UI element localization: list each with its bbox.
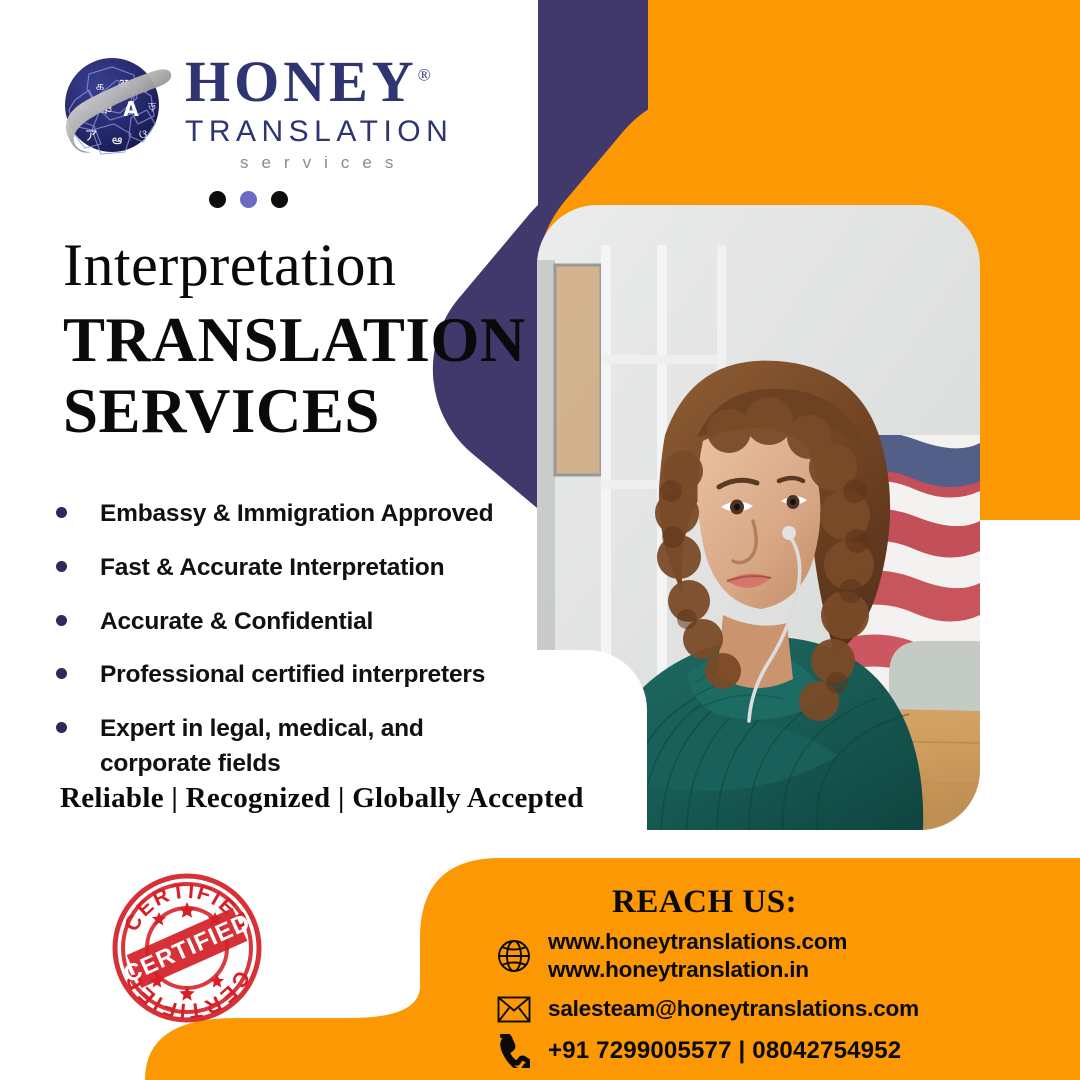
website-text: www.honeytranslations.com www.honeytrans… bbox=[548, 928, 847, 984]
logo-dot-separator bbox=[209, 191, 288, 208]
headline-bold-block: TRANSLATION SERVICES bbox=[63, 305, 526, 446]
list-item-label: Professional certified interpreters bbox=[100, 658, 485, 693]
poster-canvas: க अ ি થ ঞ A ড় ア ఆ ଓ HONEY® TRANSLATION … bbox=[0, 0, 1080, 1080]
headline-script-line: Interpretation bbox=[63, 232, 526, 299]
phone-text: +91 7299005577 | 08042754952 bbox=[548, 1036, 901, 1066]
list-item: Professional certified interpreters bbox=[56, 658, 526, 693]
tagline: Reliable | Recognized | Globally Accepte… bbox=[60, 782, 584, 815]
logo-brand-name: HONEY® bbox=[185, 54, 431, 111]
logo-brand-word: HONEY bbox=[185, 49, 418, 114]
contact-row-email[interactable]: salesteam@honeytranslations.com bbox=[492, 995, 919, 1023]
list-item: Embassy & Immigration Approved bbox=[56, 497, 526, 532]
list-item-label: Embassy & Immigration Approved bbox=[100, 497, 493, 532]
shape-trim-mask bbox=[980, 520, 1080, 680]
certified-stamp-icon: CERTIFIED CERTIFIED CERTIFIED CERTIFIED bbox=[107, 868, 267, 1026]
phone-icon bbox=[492, 1034, 536, 1068]
svg-text:ড়: ড় bbox=[147, 100, 156, 113]
globe-languages-icon: க अ ি થ ঞ A ড় ア ఆ ଓ bbox=[55, 48, 173, 166]
svg-text:A: A bbox=[123, 97, 139, 121]
svg-text:ଓ: ଓ bbox=[139, 127, 147, 141]
email-text: salesteam@honeytranslations.com bbox=[548, 995, 919, 1023]
dot-2-icon bbox=[240, 191, 257, 208]
bullet-dot-icon bbox=[56, 615, 67, 626]
logo-line-translation: TRANSLATION bbox=[185, 116, 453, 148]
svg-text:ア: ア bbox=[84, 129, 97, 144]
list-item: Fast & Accurate Interpretation bbox=[56, 551, 526, 586]
logo-line-services: services bbox=[185, 153, 453, 173]
contact-row-website[interactable]: www.honeytranslations.com www.honeytrans… bbox=[492, 928, 919, 984]
registered-trademark-icon: ® bbox=[418, 66, 431, 85]
headline-bold-line1: TRANSLATION bbox=[63, 305, 526, 375]
website-line-2: www.honeytranslation.in bbox=[548, 956, 847, 984]
headline-bold-line2: SERVICES bbox=[63, 376, 526, 447]
bullet-dot-icon bbox=[56, 507, 67, 518]
list-item-label: Accurate & Confidential bbox=[100, 605, 373, 640]
list-item: Accurate & Confidential bbox=[56, 605, 526, 640]
list-item-label: Fast & Accurate Interpretation bbox=[100, 551, 444, 586]
page-title: Interpretation TRANSLATION SERVICES bbox=[63, 232, 526, 446]
website-line-1: www.honeytranslations.com bbox=[548, 929, 847, 954]
bullet-dot-icon bbox=[56, 722, 67, 733]
svg-text:ఆ: ఆ bbox=[112, 133, 122, 148]
contact-row-phone[interactable]: +91 7299005577 | 08042754952 bbox=[492, 1034, 919, 1068]
bullet-dot-icon bbox=[56, 668, 67, 679]
dot-1-icon bbox=[209, 191, 226, 208]
dot-3-icon bbox=[271, 191, 288, 208]
bullet-dot-icon bbox=[56, 561, 67, 572]
list-item-label: Expert in legal, medical, and corporate … bbox=[100, 712, 430, 782]
svg-text:க: க bbox=[96, 79, 104, 94]
envelope-icon bbox=[492, 996, 536, 1023]
contact-list: www.honeytranslations.com www.honeytrans… bbox=[492, 928, 919, 1079]
globe-icon bbox=[492, 939, 536, 973]
brand-logo: க अ ি થ ঞ A ড় ア ఆ ଓ HONEY® TRANSLATION … bbox=[55, 48, 453, 173]
contact-heading: REACH US: bbox=[612, 884, 797, 921]
feature-list: Embassy & Immigration Approved Fast & Ac… bbox=[56, 497, 526, 801]
list-item: Expert in legal, medical, and corporate … bbox=[56, 712, 526, 782]
